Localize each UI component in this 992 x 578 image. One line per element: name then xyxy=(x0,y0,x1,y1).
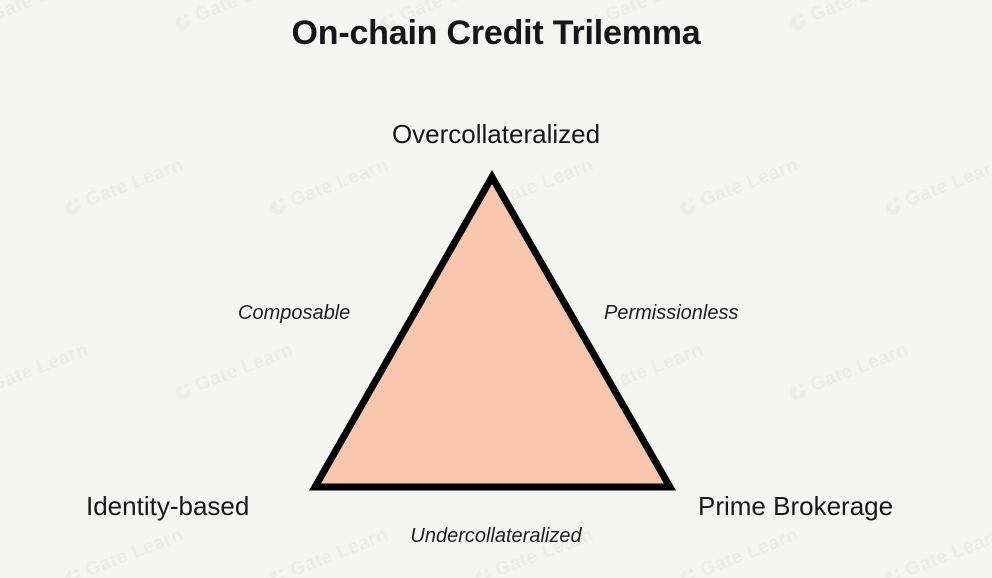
vertex-label-prime-brokerage: Prime Brokerage xyxy=(698,491,893,522)
vertex-label-overcollateralized: Overcollateralized xyxy=(0,119,992,150)
triangle-shape xyxy=(315,177,670,487)
edge-label-permissionless: Permissionless xyxy=(604,302,738,325)
edge-label-undercollateralized: Undercollateralized xyxy=(0,525,992,548)
edge-label-composable: Composable xyxy=(238,302,350,325)
diagram-canvas: Gate LearnGate LearnGate LearnGate Learn… xyxy=(0,0,992,578)
vertex-label-identity-based: Identity-based xyxy=(86,491,249,522)
page-title: On-chain Credit Trilemma xyxy=(0,14,992,53)
